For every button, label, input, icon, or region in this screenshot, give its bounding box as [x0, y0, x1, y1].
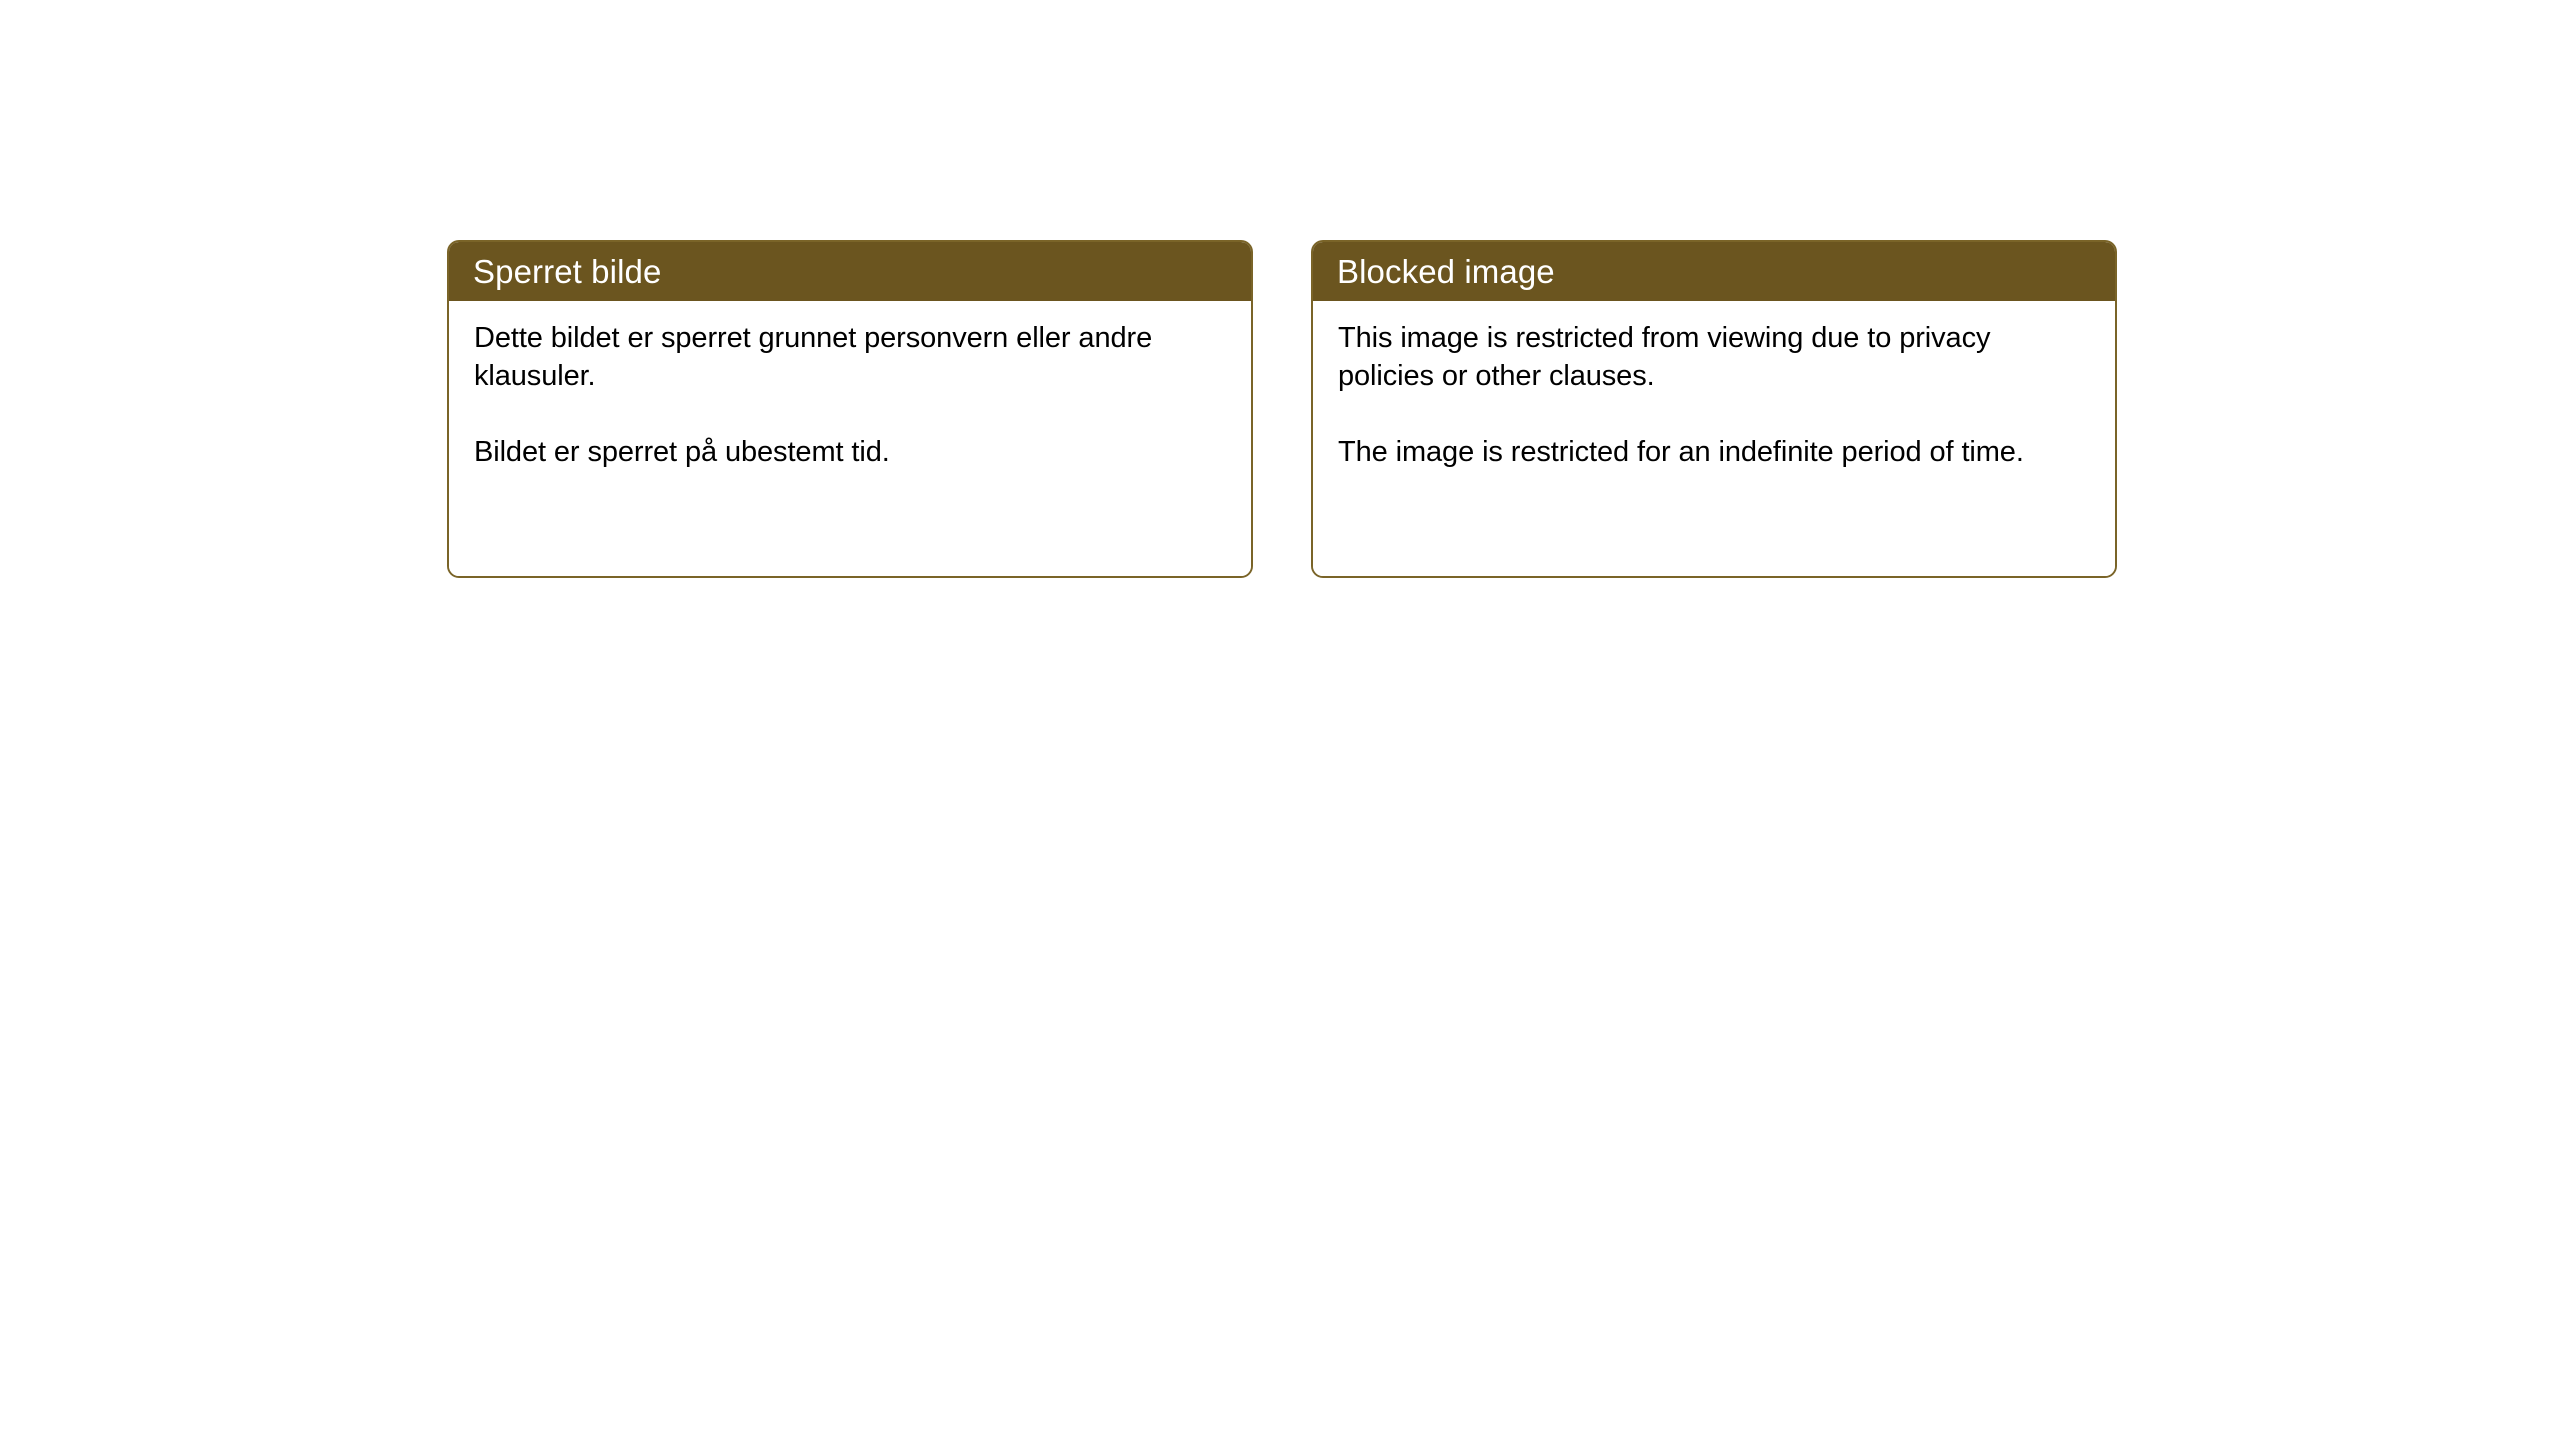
card-paragraph-english-2: The image is restricted for an indefinit…	[1338, 433, 2093, 471]
blocked-image-card-english: Blocked image This image is restricted f…	[1311, 240, 2117, 578]
card-title-english: Blocked image	[1337, 255, 1555, 288]
blocked-image-card-norwegian: Sperret bilde Dette bildet er sperret gr…	[447, 240, 1253, 578]
blocked-image-notice-container: Sperret bilde Dette bildet er sperret gr…	[447, 240, 2117, 578]
card-body-english: This image is restricted from viewing du…	[1313, 301, 2115, 576]
card-header-english: Blocked image	[1312, 241, 2116, 301]
card-body-norwegian: Dette bildet er sperret grunnet personve…	[449, 301, 1251, 576]
card-paragraph-norwegian-2: Bildet er sperret på ubestemt tid.	[474, 433, 1229, 471]
card-title-norwegian: Sperret bilde	[473, 255, 661, 288]
card-header-norwegian: Sperret bilde	[448, 241, 1252, 301]
card-paragraph-norwegian-1: Dette bildet er sperret grunnet personve…	[474, 319, 1229, 395]
card-paragraph-english-1: This image is restricted from viewing du…	[1338, 319, 2093, 395]
